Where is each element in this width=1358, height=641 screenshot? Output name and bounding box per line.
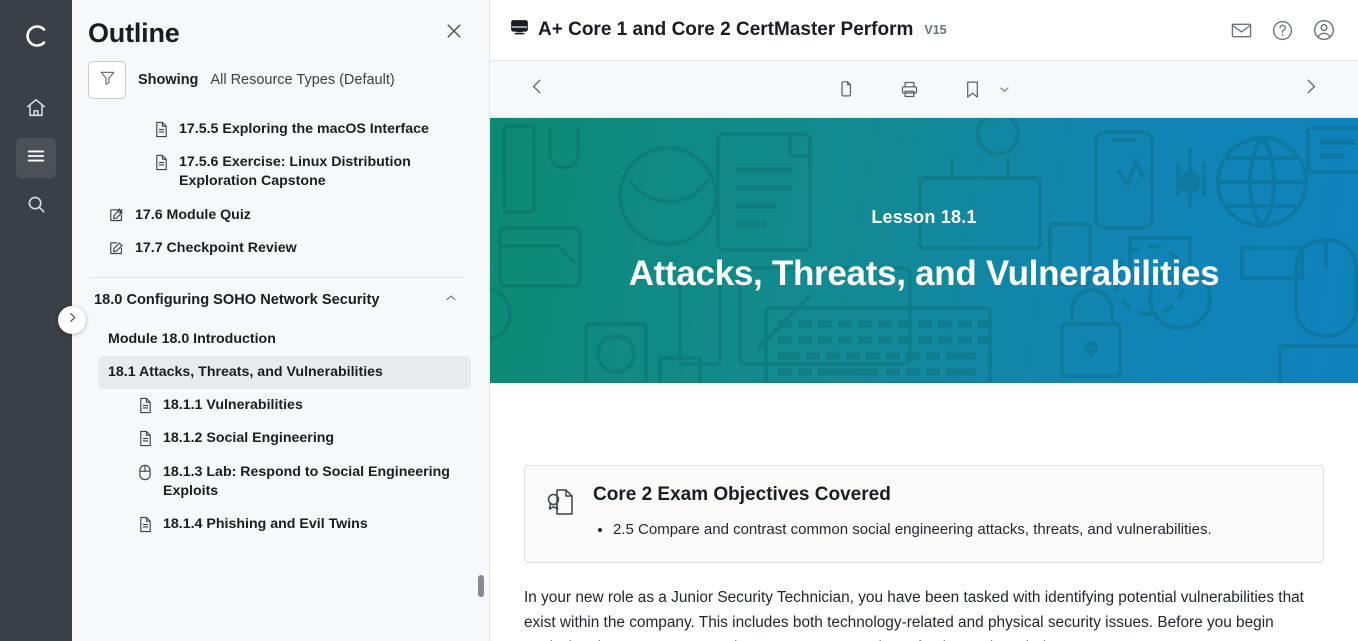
list-item-label: 17.5.5 Exploring the macOS Interface — [179, 120, 429, 139]
chevron-left-icon — [528, 77, 547, 101]
rail-item-home[interactable] — [16, 90, 56, 130]
rail-item-menu[interactable] — [16, 138, 56, 178]
hero-pattern-illustration — [490, 118, 1358, 383]
outline-scrollbar-thumb[interactable] — [478, 575, 484, 597]
filter-showing-value[interactable]: All Resource Types (Default) — [210, 72, 394, 88]
help-icon[interactable] — [1271, 19, 1294, 42]
page-title: Outline — [88, 18, 180, 49]
next-page-button[interactable] — [1301, 77, 1320, 101]
main-area: A+ Core 1 and Core 2 CertMaster Perform … — [490, 0, 1358, 641]
list-item-label: 18.1 Attacks, Threats, and Vulnerabiliti… — [108, 363, 383, 382]
quiz-icon — [108, 239, 126, 256]
account-icon[interactable] — [1312, 18, 1336, 42]
lesson-content: Lesson 18.1 Attacks, Threats, and Vulner… — [490, 118, 1358, 641]
close-icon — [444, 21, 464, 46]
filter-icon — [98, 68, 117, 92]
callout-title: Core 2 Exam Objectives Covered — [593, 484, 1212, 506]
list-item-selected[interactable]: 18.1 Attacks, Threats, and Vulnerabiliti… — [98, 356, 471, 389]
document-icon — [136, 429, 154, 447]
list-item-label: 17.6 Module Quiz — [135, 206, 251, 225]
document-icon — [136, 515, 154, 533]
mail-icon[interactable] — [1230, 19, 1253, 42]
lesson-intro-paragraph: In your new role as a Junior Security Te… — [524, 585, 1324, 641]
hero-lesson-label: Lesson 18.1 — [871, 207, 976, 228]
lesson-hero-banner: Lesson 18.1 Attacks, Threats, and Vulner… — [490, 118, 1358, 383]
lesson-body: Core 2 Exam Objectives Covered 2.5 Compa… — [490, 465, 1358, 641]
c-logo-icon[interactable] — [14, 14, 58, 58]
course-version-badge: V15 — [924, 23, 946, 37]
list-item[interactable]: 18.1.3 Lab: Respond to Social Engineerin… — [126, 456, 471, 508]
menu-icon — [25, 145, 47, 172]
list-item[interactable]: Module 18.0 Introduction — [98, 323, 471, 356]
outline-scrollbar[interactable] — [478, 120, 484, 635]
copy-icon[interactable] — [836, 79, 857, 100]
outline-panel: Outline Showing All Resource Types (Defa… — [72, 0, 490, 641]
outline-section-header[interactable]: 18.0 Configuring SOHO Network Security — [84, 278, 471, 323]
filter-showing-label: Showing — [138, 72, 198, 88]
list-item[interactable]: 17.5.6 Exercise: Linux Distribution Expl… — [142, 146, 471, 198]
content-toolbar — [490, 60, 1358, 118]
header-icons — [1230, 18, 1336, 42]
quiz-icon — [108, 206, 126, 223]
search-icon — [25, 193, 47, 220]
filter-row: Showing All Resource Types (Default) — [72, 55, 489, 113]
callout-list: 2.5 Compare and contrast common social e… — [613, 519, 1212, 542]
list-item-label: 18.1.3 Lab: Respond to Social Engineerin… — [163, 463, 461, 501]
filter-button[interactable] — [88, 61, 126, 99]
document-icon — [152, 120, 170, 138]
list-item[interactable]: 18.1.4 Phishing and Evil Twins — [126, 508, 471, 541]
chevron-down-icon[interactable] — [997, 82, 1012, 97]
rail-item-search[interactable] — [16, 186, 56, 226]
list-item[interactable]: 18.1.2 Social Engineering — [126, 422, 471, 455]
document-icon — [136, 396, 154, 414]
list-item-label: 17.7 Checkpoint Review — [135, 239, 297, 258]
toolbar-center-actions — [490, 79, 1358, 100]
hero-lesson-title: Attacks, Threats, and Vulnerabilities — [629, 254, 1220, 294]
app-root: Outline Showing All Resource Types (Defa… — [0, 0, 1358, 641]
collapse-panel-handle[interactable] — [58, 306, 86, 334]
course-header: A+ Core 1 and Core 2 CertMaster Perform … — [490, 0, 1358, 60]
print-icon[interactable] — [899, 79, 920, 100]
outline-list: 17.5.5 Exploring the macOS Interface 17.… — [72, 113, 489, 641]
list-item[interactable]: 17.6 Module Quiz — [98, 199, 471, 232]
list-item[interactable]: 18.1.1 Vulnerabilities — [126, 389, 471, 422]
chevron-right-icon — [1301, 77, 1320, 101]
previous-page-button[interactable] — [528, 77, 547, 101]
monitor-icon — [510, 18, 529, 42]
chevron-right-icon — [66, 311, 79, 329]
list-item[interactable]: 17.5.5 Exploring the macOS Interface — [142, 113, 471, 146]
list-item-label: 17.5.6 Exercise: Linux Distribution Expl… — [179, 153, 461, 191]
exam-objectives-callout: Core 2 Exam Objectives Covered 2.5 Compa… — [524, 465, 1324, 563]
callout-body: Core 2 Exam Objectives Covered 2.5 Compa… — [593, 484, 1212, 542]
callout-list-item: 2.5 Compare and contrast common social e… — [613, 519, 1212, 542]
list-item-label: 18.1.1 Vulnerabilities — [163, 396, 303, 415]
lab-mouse-icon — [136, 463, 154, 481]
list-item-label: 18.1.2 Social Engineering — [163, 429, 334, 448]
list-item-label: 18.1.4 Phishing and Evil Twins — [163, 515, 368, 534]
course-title-wrap: A+ Core 1 and Core 2 CertMaster Perform … — [510, 18, 947, 42]
list-item[interactable]: 17.7 Checkpoint Review — [98, 232, 471, 265]
outline-header: Outline — [72, 0, 489, 55]
bookmark-icon[interactable] — [962, 79, 983, 100]
close-outline-button[interactable] — [441, 21, 467, 47]
chevron-up-icon[interactable] — [443, 290, 459, 311]
section-label: 18.0 Configuring SOHO Network Security — [94, 292, 379, 308]
certificate-icon — [545, 484, 579, 523]
list-item-label: Module 18.0 Introduction — [108, 330, 276, 349]
course-title: A+ Core 1 and Core 2 CertMaster Perform — [538, 19, 913, 41]
document-icon — [152, 153, 170, 171]
home-icon — [25, 97, 47, 124]
